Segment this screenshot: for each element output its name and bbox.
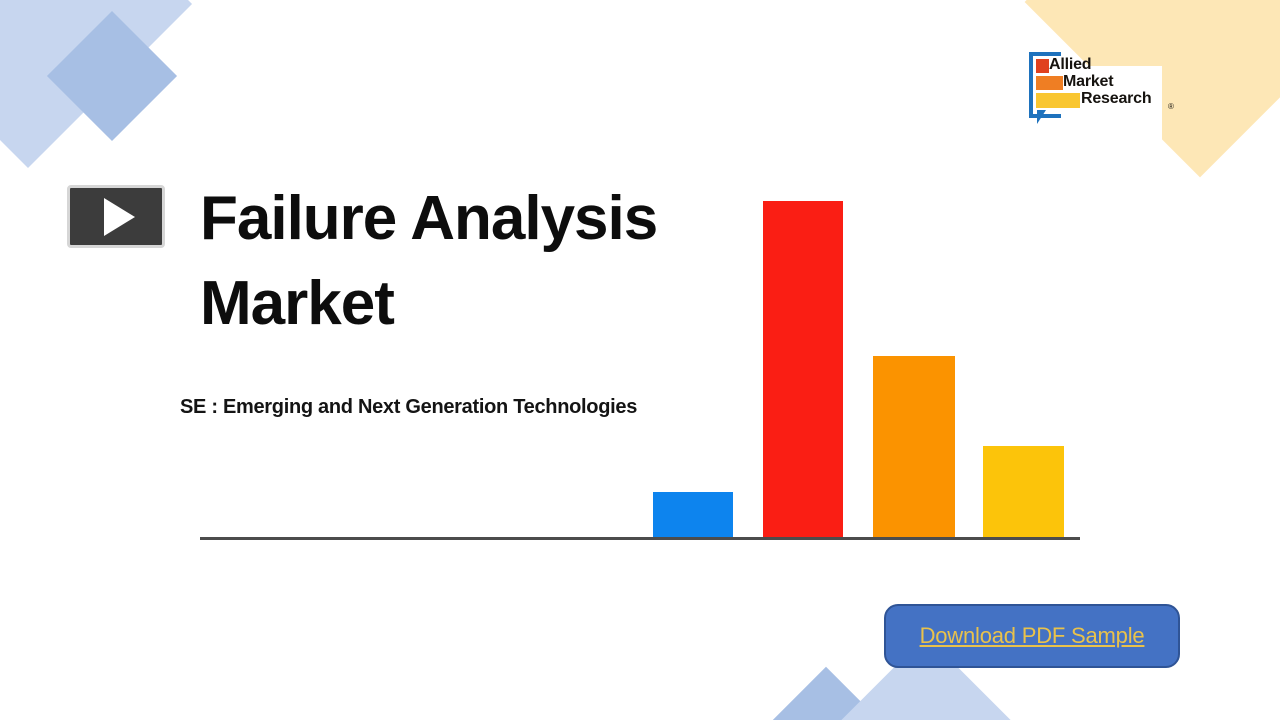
bar-chart-bar: [763, 201, 843, 538]
bar-chart-bar: [653, 492, 733, 538]
bar-chart-bars: [0, 0, 1280, 538]
slide-canvas: Allied Market Research ® Failure Analysi…: [0, 0, 1280, 720]
chart-axis-line: [200, 537, 1080, 540]
download-pdf-sample-button[interactable]: Download PDF Sample: [884, 604, 1180, 668]
bar-chart-bar: [873, 356, 955, 538]
download-pdf-sample-label: Download PDF Sample: [920, 623, 1145, 649]
bar-chart-bar: [983, 446, 1064, 538]
